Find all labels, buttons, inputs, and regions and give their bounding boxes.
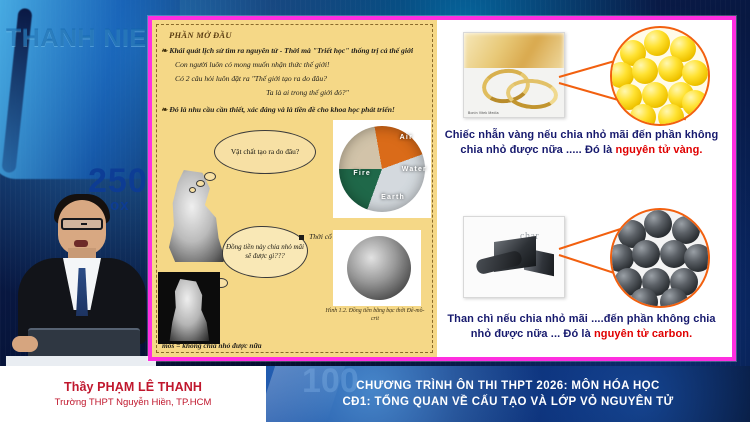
gold-photo-credit: Bonin Vitek Media (468, 111, 499, 115)
carbon-atom (632, 240, 660, 268)
textbook-page: PHẦN MỞ ĐẦU ❧Khái quát lịch sử tìm ra ng… (152, 20, 437, 357)
glasses-icon (61, 218, 103, 230)
gold-caption-highlight: nguyên tử vàng. (616, 144, 703, 156)
carbon-caption: Than chì nếu chia nhỏ mãi ....đến phần k… (437, 312, 726, 341)
slide-content: PHẦN MỞ ĐẦU ❧Khái quát lịch sử tìm ra ng… (152, 20, 732, 357)
page-bullet-1-text: Khái quát lịch sử tìm ra nguyên tử - Thờ… (169, 46, 413, 55)
gold-caption: Chiếc nhẫn vàng nếu chia nhỏ mãi đến phầ… (437, 128, 726, 157)
lower-third-bar: Thầy PHẠM LÊ THANH Trường THPT Nguyễn Hi… (0, 366, 750, 422)
element-label-air: Air (400, 134, 413, 141)
carbon-caption-highlight: nguyên tử carbon. (594, 328, 692, 340)
gold-atom (682, 90, 708, 116)
slide-frame: PHẦN MỞ ĐẦU ❧Khái quát lịch sử tìm ra ng… (148, 16, 736, 361)
presenter-name: Thầy PHẠM LÊ THANH (64, 380, 202, 394)
program-title-line-1: CHƯƠNG TRÌNH ÔN THI THPT 2026: MÔN HÓA H… (356, 380, 659, 392)
channel-watermark: THANH NIEN (6, 24, 165, 53)
gold-atom (658, 56, 684, 82)
gold-atom (658, 104, 684, 126)
presenter-video (6, 196, 156, 368)
presenter-hand (12, 336, 38, 352)
page-line-1: Con người luôn có mong muốn nhận thức th… (175, 59, 428, 70)
carbon-atom (660, 288, 688, 308)
carbon-atom (644, 210, 672, 238)
element-label-earth: Earth (381, 194, 405, 201)
bullet-marker-icon: ❧ (161, 46, 167, 55)
page-bullet-1: ❧Khái quát lịch sử tìm ra nguyên tử - Th… (161, 45, 428, 56)
democritus-bust-image (158, 272, 220, 344)
figure-caption: Hình 1.2. Đồng tiền bằng bạc thời Đê-mô-… (323, 308, 427, 324)
presenter-name-panel: Thầy PHẠM LÊ THANH Trường THPT Nguyễn Hi… (0, 366, 266, 422)
page-footer-note: mos = không chia nhỏ được nữa (162, 341, 262, 350)
element-label-water: Water (402, 166, 427, 173)
bullet-marker-2-icon: ❧ (161, 105, 167, 114)
gold-atom (630, 104, 656, 126)
gold-atoms-magnifier (610, 26, 710, 126)
square-bullet-icon (299, 235, 304, 240)
carbon-atom (630, 288, 658, 308)
program-title-panel: 100 CHƯƠNG TRÌNH ÔN THI THPT 2026: MÔN H… (266, 366, 750, 422)
gold-atom (632, 58, 658, 84)
bubble-1-dot-1 (204, 172, 216, 181)
carbon-atoms-magnifier (610, 208, 710, 308)
gold-rings-photo: Bonin Vitek Media (463, 32, 565, 118)
gold-atom (644, 30, 670, 56)
bubble-1-dot-3 (189, 187, 196, 193)
program-title-line-2: CĐ1: TỔNG QUAN VỀ CẤU TẠO VÀ LỚP VỎ NGUY… (342, 396, 673, 408)
page-line-3: Ta là ai trong thế giới đó?" (187, 87, 428, 98)
graphite-photo: char (463, 216, 565, 298)
thought-bubble-1: Vật chất tạo ra do đâu? (214, 130, 316, 174)
presenter-school: Trường THPT Nguyễn Hiền, TP.HCM (55, 397, 212, 408)
page-bullet-2: ❧Đó là nhu cầu cần thiết, xác đáng và là… (161, 104, 428, 115)
page-bullet-2-text: Đó là nhu cầu cần thiết, xác đáng và là … (169, 105, 395, 114)
screenshot-stage: THANH NIEN 250 ox PHẦN MỞ ĐẦU ❧Khái quát… (0, 0, 750, 422)
silver-coin (347, 236, 411, 300)
presenter-mouth (74, 240, 88, 247)
thinker-statue-image (164, 170, 226, 262)
background-number-value: 250 (88, 162, 148, 200)
page-title: PHẦN MỞ ĐẦU (169, 30, 428, 40)
element-label-fire: Fire (353, 170, 371, 177)
bubble-1-dot-2 (196, 180, 205, 187)
thought-bubble-2: Đồng tiền này chia nhỏ mãi sẽ được gì??? (222, 226, 308, 278)
page-line-2: Có 2 câu hỏi luôn đặt ra "Thế giới tạo r… (175, 73, 428, 84)
explanation-panel: Bonin Vitek Media (437, 20, 732, 357)
